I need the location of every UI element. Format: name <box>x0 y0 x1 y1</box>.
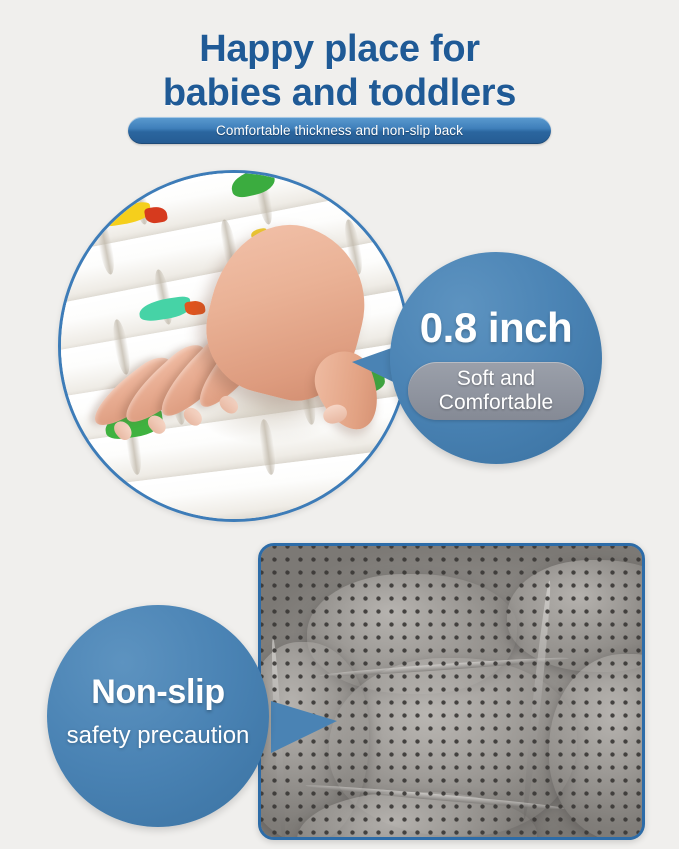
nonslip-title: Non-slip <box>47 673 269 712</box>
comfort-pill: Soft andComfortable <box>408 362 584 420</box>
callout-tail-icon <box>271 701 337 753</box>
page-title: Happy place for babies and toddlers <box>0 27 679 116</box>
subtitle-banner: Comfortable thickness and non-slip back <box>128 117 551 144</box>
thickness-bubble: 0.8 inch Soft andComfortable <box>390 252 602 464</box>
product-feature-card: Happy place for babies and toddlers Comf… <box>0 0 679 849</box>
nonslip-callout: Non-slip safety precaution <box>47 605 337 827</box>
comfort-pill-line-2: Comfortable <box>439 391 553 414</box>
nonslip-subtitle: safety precaution <box>47 722 269 750</box>
headline-line-2: babies and toddlers <box>0 71 679 115</box>
comfort-pill-line-1: Soft and <box>457 367 535 390</box>
thickness-callout: 0.8 inch Soft andComfortable <box>352 252 602 477</box>
thickness-value: 0.8 inch <box>390 304 602 352</box>
nonslip-bubble: Non-slip safety precaution <box>47 605 269 827</box>
headline-line-1: Happy place for <box>199 28 480 70</box>
subtitle-text: Comfortable thickness and non-slip back <box>216 123 463 138</box>
comfort-pill-text: Soft andComfortable <box>439 367 553 414</box>
